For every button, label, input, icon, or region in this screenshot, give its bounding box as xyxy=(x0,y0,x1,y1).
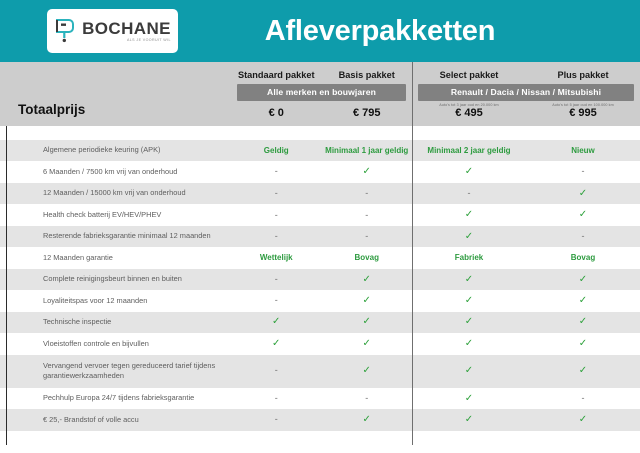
dash-mark: - xyxy=(322,211,413,220)
table-row: € 25,- Brandstof of volle accu-✓✓✓ xyxy=(0,409,640,430)
check-icon: ✓ xyxy=(412,232,526,242)
row-cells-all-brands: -- xyxy=(231,232,412,241)
brand-banner-selected: Renault / Dacia / Nissan / Mitsubishi xyxy=(418,84,634,101)
table-row: Health check batterij EV/HEV/PHEV--✓✓ xyxy=(0,204,640,225)
package-price-plus: € 995 xyxy=(526,107,640,119)
row-cells-all-brands: -- xyxy=(231,394,412,403)
table-row: 6 Maanden / 7500 km vrij van onderhoud-✓… xyxy=(0,161,640,182)
cell-value: Bovag xyxy=(322,254,413,262)
check-icon: ✓ xyxy=(412,296,526,306)
row-cells-all-brands: -- xyxy=(231,189,412,198)
row-cells-selected-brands: ✓✓ xyxy=(412,210,640,220)
package-price-standaard: € 0 xyxy=(231,107,322,119)
package-name-select: Select pakket xyxy=(412,70,526,80)
check-icon: ✓ xyxy=(526,339,640,349)
package-note-select: Auto's tot 3 jaar oud en 20.000 km xyxy=(412,103,526,107)
table-row: Algemene periodieke keuring (APK)GeldigM… xyxy=(0,140,640,161)
dash-mark: - xyxy=(231,275,322,285)
dash-mark: - xyxy=(231,189,322,198)
row-cells-selected-brands: Minimaal 2 jaar geldigNieuw xyxy=(412,147,640,155)
row-label: Vervangend vervoer tegen gereduceerd tar… xyxy=(0,361,231,382)
row-cells-selected-brands: ✓- xyxy=(412,167,640,177)
check-icon: ✓ xyxy=(322,296,413,306)
header-table-gap xyxy=(0,126,640,140)
check-icon: ✓ xyxy=(322,415,413,425)
afleverpakketten-page: BOCHANE ALS JE VOORUIT WIL Afleverpakket… xyxy=(0,0,640,453)
check-icon: ✓ xyxy=(412,394,526,404)
package-price-select: € 495 xyxy=(412,107,526,119)
page-title: Afleverpakketten xyxy=(0,15,640,48)
row-cells-selected-brands: ✓✓ xyxy=(412,415,640,425)
row-cells-all-brands: WettelijkBovag xyxy=(231,254,412,262)
package-note-plus: Auto's tot 5 jaar oud en 100.000 km xyxy=(526,103,640,107)
row-cells-selected-brands: ✓✓ xyxy=(412,275,640,285)
row-cells-selected-brands: FabriekBovag xyxy=(412,254,640,262)
package-name-plus: Plus pakket xyxy=(526,70,640,80)
check-icon: ✓ xyxy=(526,210,640,220)
table-row: Complete reinigingsbeurt binnen en buite… xyxy=(0,269,640,290)
dash-mark: - xyxy=(322,232,413,241)
cell-value: Nieuw xyxy=(526,147,640,155)
dash-mark: - xyxy=(526,167,640,177)
row-cells-selected-brands: -✓ xyxy=(412,189,640,199)
check-icon: ✓ xyxy=(412,415,526,425)
dash-mark: - xyxy=(231,415,322,425)
table-row: Vervangend vervoer tegen gereduceerd tar… xyxy=(0,355,640,388)
row-cells-selected-brands: ✓✓ xyxy=(412,317,640,327)
check-icon: ✓ xyxy=(322,339,413,349)
feature-table: Algemene periodieke keuring (APK)GeldigM… xyxy=(0,140,640,431)
table-bottom-blank xyxy=(0,431,640,453)
check-icon: ✓ xyxy=(526,296,640,306)
row-cells-all-brands: -✓ xyxy=(231,415,412,425)
check-icon: ✓ xyxy=(322,366,413,376)
row-cells-selected-brands: ✓✓ xyxy=(412,296,640,306)
dash-mark: - xyxy=(322,189,413,198)
row-label: 6 Maanden / 7500 km vrij van onderhoud xyxy=(0,167,231,178)
row-cells-all-brands: ✓✓ xyxy=(231,317,412,327)
check-icon: ✓ xyxy=(526,189,640,199)
dash-mark: - xyxy=(231,211,322,220)
dash-mark: - xyxy=(322,394,413,403)
table-row: Loyaliteitspas voor 12 maanden-✓✓✓ xyxy=(0,290,640,311)
check-icon: ✓ xyxy=(412,366,526,376)
check-icon: ✓ xyxy=(231,339,322,349)
row-cells-all-brands: -✓ xyxy=(231,167,412,177)
row-cells-selected-brands: ✓- xyxy=(412,394,640,404)
dash-mark: - xyxy=(412,189,526,199)
dash-mark: - xyxy=(526,394,640,404)
check-icon: ✓ xyxy=(412,210,526,220)
check-icon: ✓ xyxy=(526,415,640,425)
row-cells-all-brands: ✓✓ xyxy=(231,339,412,349)
cell-value: Bovag xyxy=(526,254,640,262)
package-group-all-brands: Standaard pakket Basis pakket Alle merke… xyxy=(231,62,412,126)
package-name-standaard: Standaard pakket xyxy=(231,70,322,80)
check-icon: ✓ xyxy=(526,366,640,376)
table-row: Resterende fabrieksgarantie minimaal 12 … xyxy=(0,226,640,247)
package-price-basis: € 795 xyxy=(322,107,413,119)
check-icon: ✓ xyxy=(412,275,526,285)
check-icon: ✓ xyxy=(526,317,640,327)
row-label: Health check batterij EV/HEV/PHEV xyxy=(0,210,231,221)
row-label: Technische inspectie xyxy=(0,317,231,328)
dash-mark: - xyxy=(231,296,322,306)
row-cells-selected-brands: ✓✓ xyxy=(412,366,640,376)
column-header: Totaalprijs Standaard pakket Basis pakke… xyxy=(0,62,640,126)
check-icon: ✓ xyxy=(412,339,526,349)
cell-value: Minimaal 2 jaar geldig xyxy=(412,147,526,155)
table-row: Technische inspectie✓✓✓✓ xyxy=(0,312,640,333)
cell-value: Wettelijk xyxy=(231,254,322,262)
row-label: Algemene periodieke keuring (APK) xyxy=(0,145,231,156)
check-icon: ✓ xyxy=(412,167,526,177)
totaalprijs-label-cell: Totaalprijs xyxy=(0,62,231,126)
table-row: Vloeistoffen controle en bijvullen✓✓✓✓ xyxy=(0,333,640,354)
check-icon: ✓ xyxy=(322,275,413,285)
check-icon: ✓ xyxy=(322,317,413,327)
row-cells-selected-brands: ✓- xyxy=(412,232,640,242)
package-name-basis: Basis pakket xyxy=(322,70,413,80)
row-label: 12 Maanden / 15000 km vrij van onderhoud xyxy=(0,188,231,199)
row-label: € 25,- Brandstof of volle accu xyxy=(0,415,231,426)
table-row: 12 Maanden garantieWettelijkBovagFabriek… xyxy=(0,247,640,268)
page-header: BOCHANE ALS JE VOORUIT WIL Afleverpakket… xyxy=(0,0,640,62)
row-label: Pechhulp Europa 24/7 tijdens fabrieksgar… xyxy=(0,393,231,404)
row-label: Loyaliteitspas voor 12 maanden xyxy=(0,296,231,307)
package-group-selected-brands: Select pakket Plus pakket Renault / Daci… xyxy=(412,62,640,126)
dash-mark: - xyxy=(231,394,322,403)
totaalprijs-label: Totaalprijs xyxy=(18,102,85,117)
row-cells-all-brands: -✓ xyxy=(231,366,412,376)
dash-mark: - xyxy=(231,232,322,241)
row-cells-all-brands: -✓ xyxy=(231,296,412,306)
row-label: Complete reinigingsbeurt binnen en buite… xyxy=(0,274,231,285)
brand-banner-all: Alle merken en bouwjaren xyxy=(237,84,406,101)
dash-mark: - xyxy=(231,366,322,376)
cell-value: Geldig xyxy=(231,147,322,155)
table-row: Pechhulp Europa 24/7 tijdens fabrieksgar… xyxy=(0,388,640,409)
row-label: 12 Maanden garantie xyxy=(0,253,231,264)
dash-mark: - xyxy=(231,167,322,177)
row-cells-all-brands: -- xyxy=(231,211,412,220)
check-icon: ✓ xyxy=(526,275,640,285)
row-label: Resterende fabrieksgarantie minimaal 12 … xyxy=(0,231,231,242)
row-cells-selected-brands: ✓✓ xyxy=(412,339,640,349)
check-icon: ✓ xyxy=(322,167,413,177)
row-label: Vloeistoffen controle en bijvullen xyxy=(0,339,231,350)
dash-mark: - xyxy=(526,232,640,242)
cell-value: Fabriek xyxy=(412,254,526,262)
cell-value: Minimaal 1 jaar geldig xyxy=(322,147,413,155)
table-row: 12 Maanden / 15000 km vrij van onderhoud… xyxy=(0,183,640,204)
check-icon: ✓ xyxy=(412,317,526,327)
check-icon: ✓ xyxy=(231,317,322,327)
row-cells-all-brands: -✓ xyxy=(231,275,412,285)
row-cells-all-brands: GeldigMinimaal 1 jaar geldig xyxy=(231,147,412,155)
